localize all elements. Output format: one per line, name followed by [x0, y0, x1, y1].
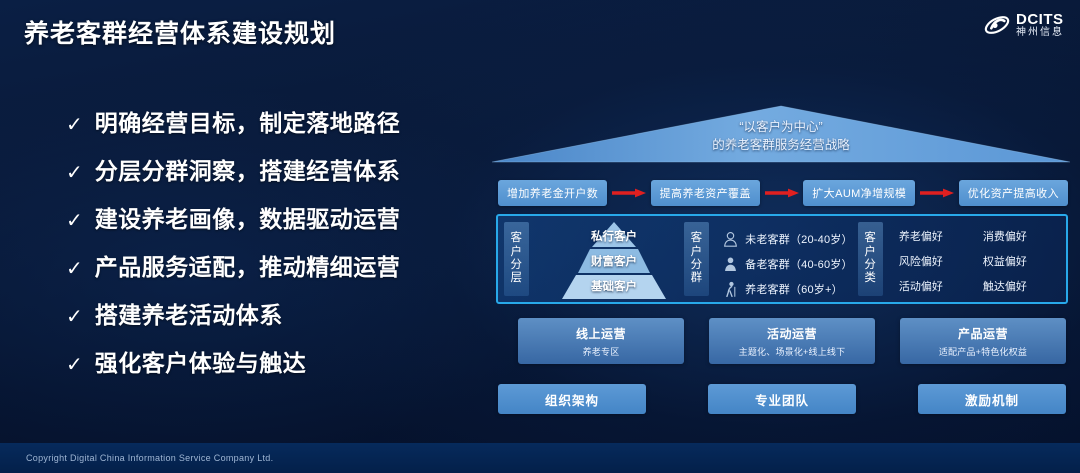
foundation-box-incentive[interactable]: 激励机制 — [918, 384, 1066, 414]
group-item-label: 未老客群（20-40岁） — [745, 231, 853, 247]
roof-line-1: “以客户为中心” — [492, 118, 1070, 136]
class-item: 消费偏好 — [983, 228, 1059, 244]
check-icon: ✓ — [66, 355, 83, 375]
logo-text-cn: 神州信息 — [1016, 28, 1064, 39]
tier-section-label: 客 户 分 层 — [504, 222, 529, 296]
group-section-label: 客 户 分 群 — [684, 222, 709, 296]
group-label-char-3: 分 — [691, 259, 703, 272]
group-label-char-2: 户 — [691, 246, 703, 259]
classify-label-char-1: 客 — [864, 232, 876, 245]
group-label-char-1: 客 — [691, 232, 703, 245]
classify-label-char-3: 分 — [864, 259, 876, 272]
roof-text: “以客户为中心” 的养老客群服务经营战略 — [492, 118, 1070, 154]
customer-class-grid: 养老偏好 消费偏好 风险偏好 权益偏好 活动偏好 触达偏好 — [889, 220, 1062, 294]
logo-text-en: DCITS — [1016, 12, 1064, 28]
list-item-label: 分层分群洞察，搭建经营体系 — [95, 152, 401, 186]
strategy-roof: “以客户为中心” 的养老客群服务经营战略 — [492, 96, 1070, 172]
page-title: 养老客群经营体系建设规划 — [24, 14, 336, 50]
young-person-icon — [723, 231, 738, 247]
tier-section: 私行客户 财富客户 基础客户 — [535, 220, 682, 298]
list-item-label: 强化客户体验与触达 — [95, 344, 307, 378]
page-footer: Copyright Digital China Information Serv… — [0, 443, 1080, 473]
list-item-label: 建设养老画像，数据驱动运营 — [95, 200, 401, 234]
operation-card-subtitle: 养老专区 — [583, 345, 620, 358]
list-item: ✓ 明确经营目标，制定落地路径 — [66, 104, 466, 138]
list-item: ✓ 建设养老画像，数据驱动运营 — [66, 200, 466, 234]
goal-box-2[interactable]: 提高养老资产覆盖 — [651, 180, 760, 206]
list-item-label: 搭建养老活动体系 — [95, 296, 283, 330]
operation-card-product[interactable]: 产品运营 适配产品+特色化权益 — [900, 318, 1066, 364]
foundation-box-team[interactable]: 专业团队 — [708, 384, 856, 414]
class-item: 触达偏好 — [983, 278, 1059, 294]
foundation-box-organization[interactable]: 组织架构 — [498, 384, 646, 414]
goal-box-4[interactable]: 优化资产提高收入 — [959, 180, 1068, 206]
operation-card-online[interactable]: 线上运营 养老专区 — [518, 318, 684, 364]
group-item-label: 养老客群（60岁+） — [745, 281, 843, 297]
list-item-label: 明确经营目标，制定落地路径 — [95, 104, 401, 138]
check-icon: ✓ — [66, 259, 83, 279]
tier-label-char-3: 分 — [511, 259, 523, 272]
classify-section-label: 客 户 分 类 — [858, 222, 883, 296]
list-item: ✓ 分层分群洞察，搭建经营体系 — [66, 152, 466, 186]
tier-label-char-4: 层 — [511, 272, 523, 285]
check-icon: ✓ — [66, 163, 83, 183]
operations-row: 线上运营 养老专区 活动运营 主题化、场景化+线上线下 产品运营 适配产品+特色… — [518, 318, 1066, 364]
list-item-label: 产品服务适配，推动精细运营 — [95, 248, 401, 282]
group-label-char-4: 群 — [691, 272, 703, 285]
page-header: 养老客群经营体系建设规划 DCITS 神州信息 — [0, 0, 1080, 62]
tier-level-2: 财富客户 — [549, 253, 679, 269]
classify-section: 养老偏好 消费偏好 风险偏好 权益偏好 活动偏好 触达偏好 — [889, 220, 1062, 298]
class-item: 权益偏好 — [983, 253, 1059, 269]
arrow-right-icon — [612, 188, 646, 198]
customer-group-list: 未老客群（20-40岁） 备老客群（40-60岁） — [715, 220, 856, 301]
foundation-row: 组织架构 专业团队 激励机制 — [498, 384, 1066, 414]
customer-tier-pyramid: 私行客户 财富客户 基础客户 — [549, 220, 679, 300]
company-logo: DCITS 神州信息 — [984, 12, 1064, 38]
list-item: ✓ 产品服务适配，推动精细运营 — [66, 248, 466, 282]
list-item: 备老客群（40-60岁） — [723, 251, 856, 276]
tier-level-3: 基础客户 — [549, 278, 679, 294]
segmentation-panel: 客 户 分 层 私行客户 财富客户 基础客户 客 户 分 群 — [496, 214, 1068, 304]
elderly-person-icon — [723, 281, 738, 297]
check-icon: ✓ — [66, 115, 83, 135]
group-section: 未老客群（20-40岁） 备老客群（40-60岁） — [715, 220, 856, 298]
goal-chain: 增加养老金开户数 提高养老资产覆盖 扩大AUM净增规模 优化资产提高收入 — [498, 180, 1068, 206]
tier-label-char-2: 户 — [511, 246, 523, 259]
operation-card-title: 活动运营 — [767, 325, 817, 342]
operation-card-subtitle: 主题化、场景化+线上线下 — [739, 345, 846, 358]
list-item: 未老客群（20-40岁） — [723, 226, 856, 251]
strategy-diagram: “以客户为中心” 的养老客群服务经营战略 增加养老金开户数 提高养老资产覆盖 扩… — [492, 96, 1070, 426]
classify-label-char-4: 类 — [864, 272, 876, 285]
list-item: 养老客群（60岁+） — [723, 276, 856, 301]
copyright-text: Copyright Digital China Information Serv… — [26, 453, 273, 463]
operation-card-title: 线上运营 — [576, 325, 626, 342]
tier-level-1: 私行客户 — [549, 228, 679, 244]
class-item: 养老偏好 — [899, 228, 975, 244]
arrow-right-icon — [765, 188, 799, 198]
swirl-icon — [984, 12, 1010, 38]
arrow-right-icon — [920, 188, 954, 198]
operation-card-title: 产品运营 — [958, 325, 1008, 342]
goal-box-3[interactable]: 扩大AUM净增规模 — [803, 180, 915, 206]
check-icon: ✓ — [66, 211, 83, 231]
classify-label-char-2: 户 — [864, 246, 876, 259]
operation-card-subtitle: 适配产品+特色化权益 — [939, 345, 1027, 358]
adult-person-icon — [723, 256, 738, 272]
objectives-list: ✓ 明确经营目标，制定落地路径 ✓ 分层分群洞察，搭建经营体系 ✓ 建设养老画像… — [66, 104, 466, 392]
class-item: 活动偏好 — [899, 278, 975, 294]
goal-box-1[interactable]: 增加养老金开户数 — [498, 180, 607, 206]
list-item: ✓ 搭建养老活动体系 — [66, 296, 466, 330]
logo-wordmark: DCITS 神州信息 — [1016, 12, 1064, 38]
list-item: ✓ 强化客户体验与触达 — [66, 344, 466, 378]
roof-line-2: 的养老客群服务经营战略 — [492, 136, 1070, 154]
group-item-label: 备老客群（40-60岁） — [745, 256, 853, 272]
class-item: 风险偏好 — [899, 253, 975, 269]
check-icon: ✓ — [66, 307, 83, 327]
operation-card-activity[interactable]: 活动运营 主题化、场景化+线上线下 — [709, 318, 875, 364]
tier-label-char-1: 客 — [511, 232, 523, 245]
